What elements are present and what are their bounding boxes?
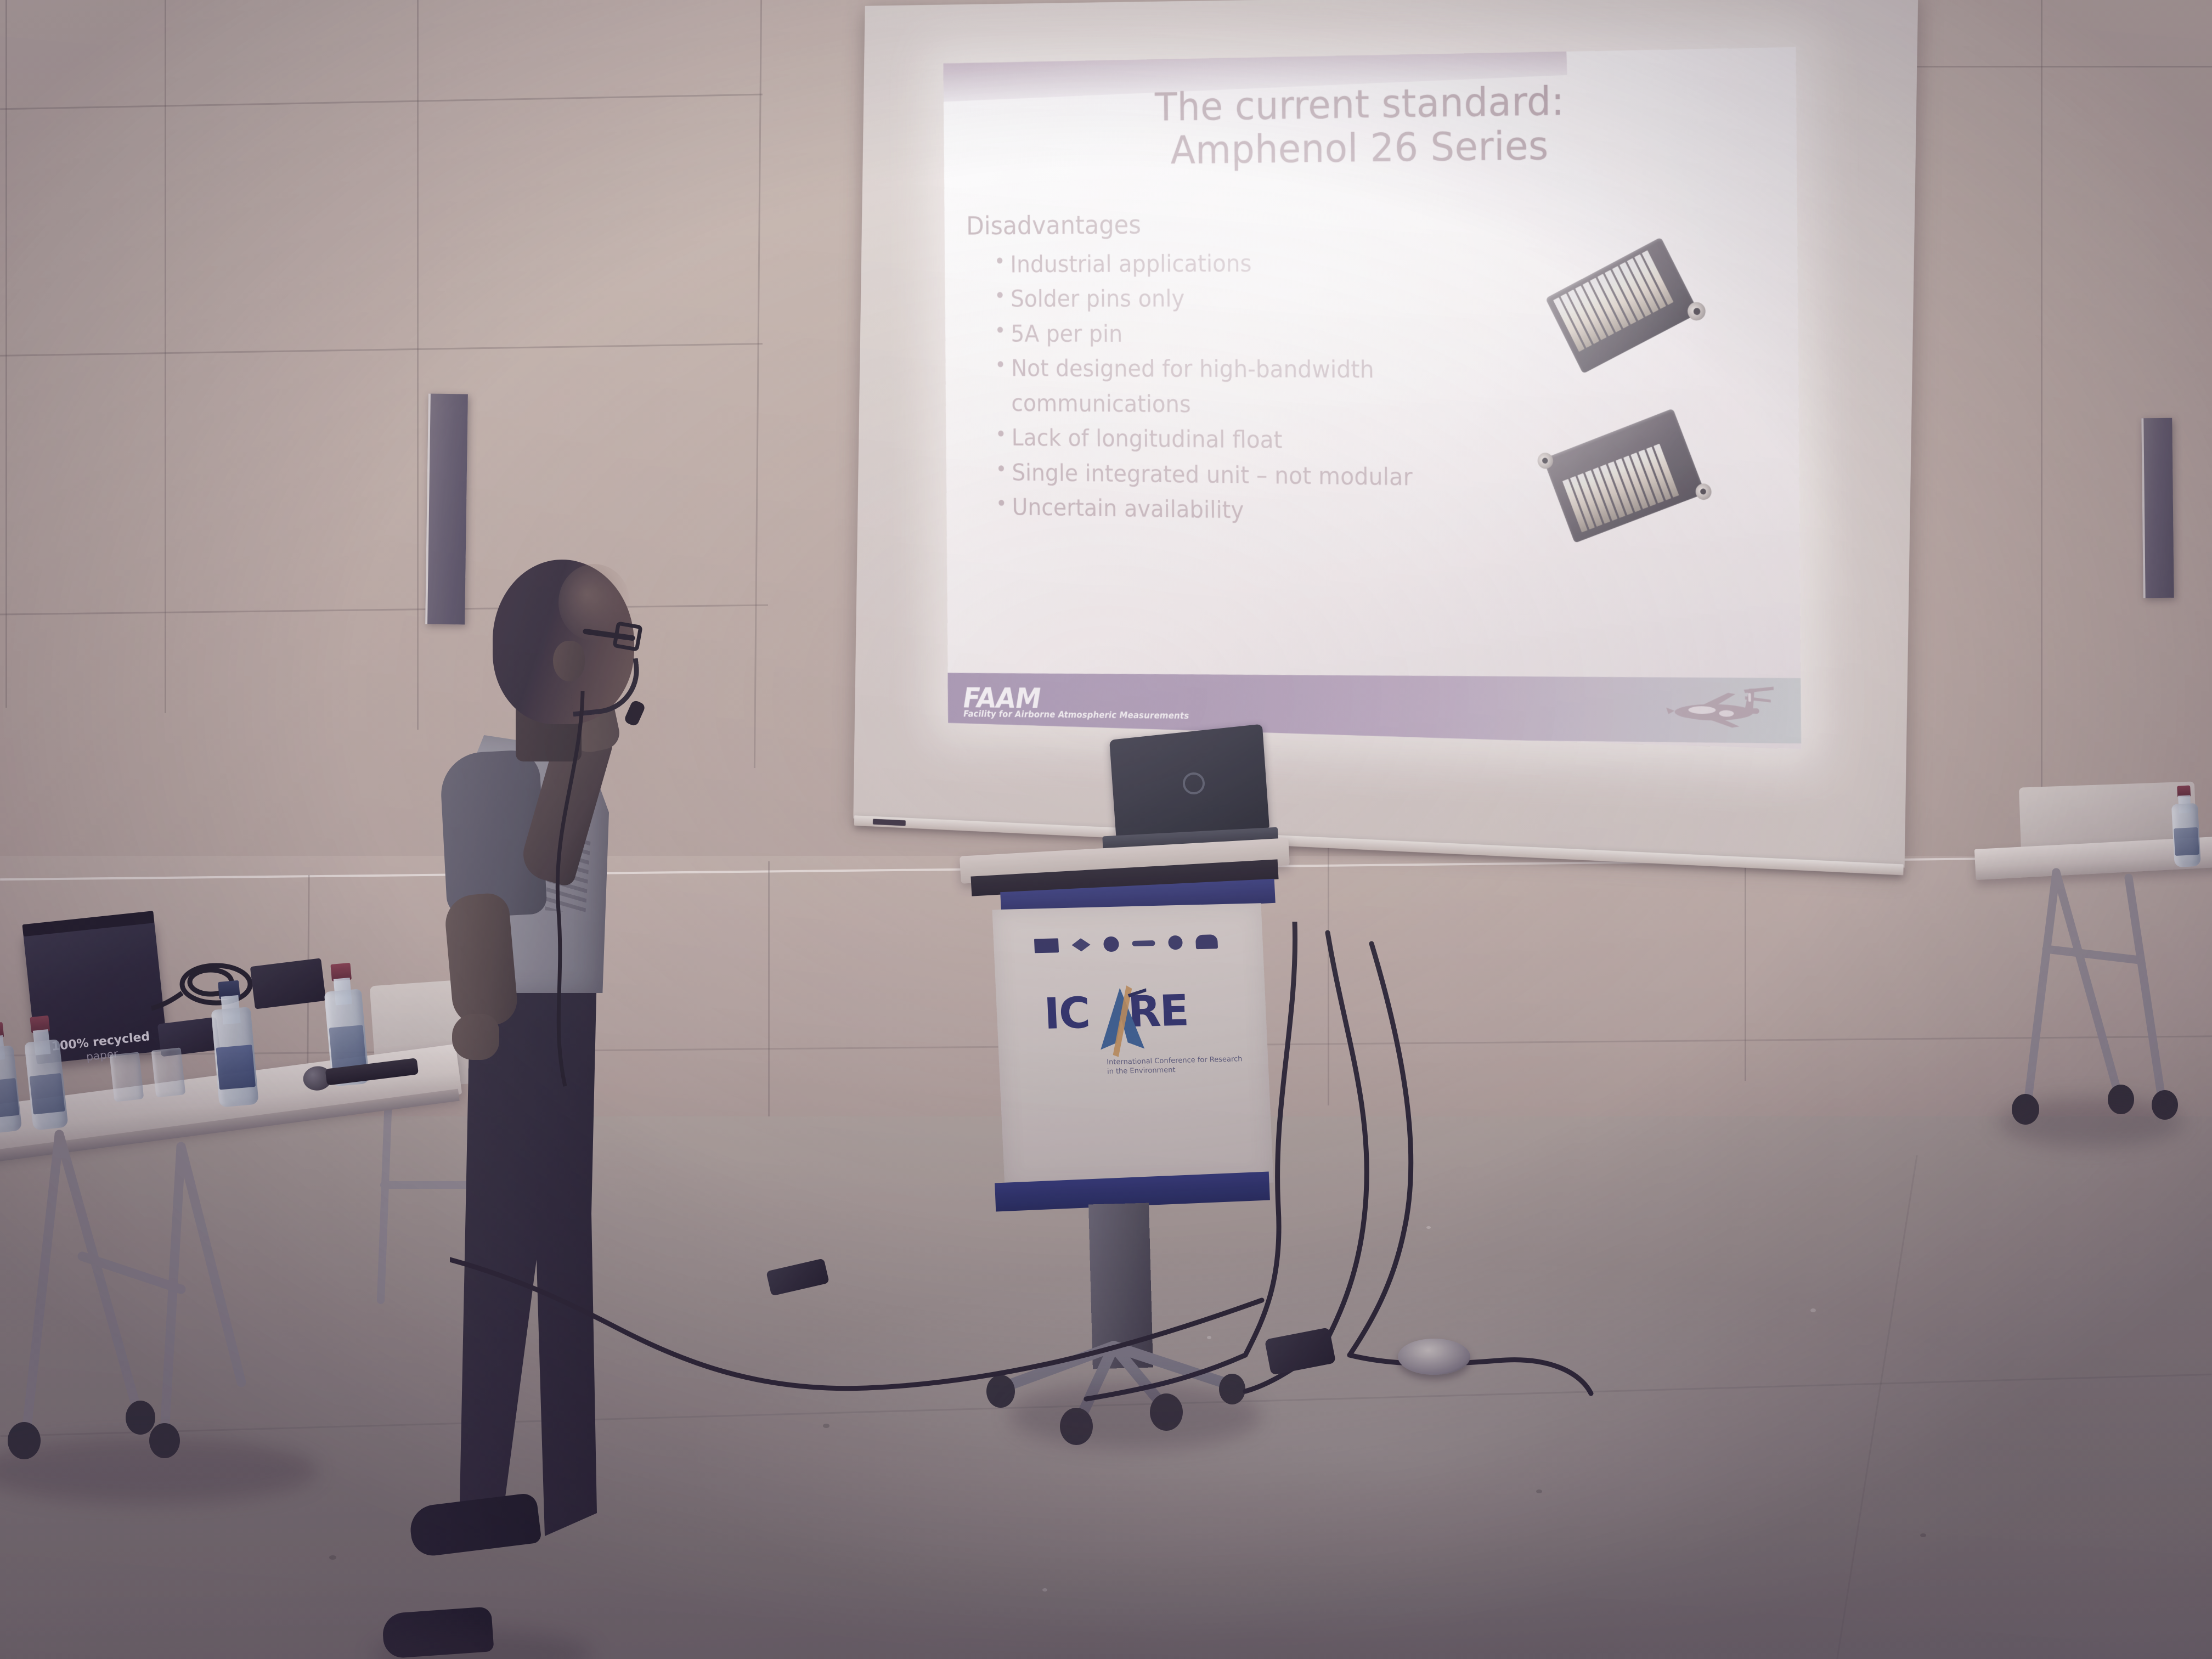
floor-microphone-puck [1398,1339,1470,1375]
slide-bullet: Lack of longitudinal float [995,420,1526,460]
water-bottle [0,1021,22,1133]
water-bottle [2170,785,2201,867]
slide-heading: Disadvantages [966,207,1525,241]
wall-seam [2041,0,2042,790]
slide-bullet: Uncertain availability [996,489,1527,532]
drinking-glass [110,1052,144,1102]
slide-body: Disadvantages Industrial applications So… [966,207,1527,532]
screen-weight-tab [873,819,906,826]
slide-title-line2: Amphenol 26 Series [944,121,1797,175]
wall-seam [768,861,770,1125]
photo-scene: The current standard: Amphenol 26 Series… [0,0,2212,1659]
faam-logo: FAAM Facility for Airborne Atmospheric M… [963,684,1189,721]
amphenol-connector-body-photo [1543,408,1705,543]
wall-speaker-right [2141,418,2174,599]
drinking-glass [151,1047,186,1097]
slide-bullet-list: Industrial applications Solder pins only… [967,244,1527,532]
presenter-glasses-lens [612,621,643,652]
adapter-box [250,958,326,1009]
projected-slide: The current standard: Amphenol 26 Series… [943,47,1801,749]
wall-seam [417,0,419,730]
presenter [433,554,741,1657]
headset-cable [499,691,642,1086]
faam-logo-subtitle: Facility for Airborne Atmospheric Measur… [963,710,1189,721]
slide-bullet: Not designed for high-bandwidth communic… [995,351,1526,425]
side-table-right [1986,790,2212,1284]
slide-bullet: 5A per pin [995,317,1526,353]
projection-screen: The current standard: Amphenol 26 Series… [853,0,1918,868]
floor-cable [450,1223,1273,1432]
wall-seam [165,0,166,713]
slide-bullet: Solder pins only [994,280,1525,317]
amphenol-connector-pins-photo [1545,237,1699,374]
wall-seam [1904,66,2212,67]
slide-bullet: Industrial applications [994,244,1525,281]
wall-seam [5,0,7,708]
aircraft-silhouette-icon [1664,681,1777,733]
wall-seam [1745,834,1746,1081]
presenter-hand [452,1014,499,1060]
